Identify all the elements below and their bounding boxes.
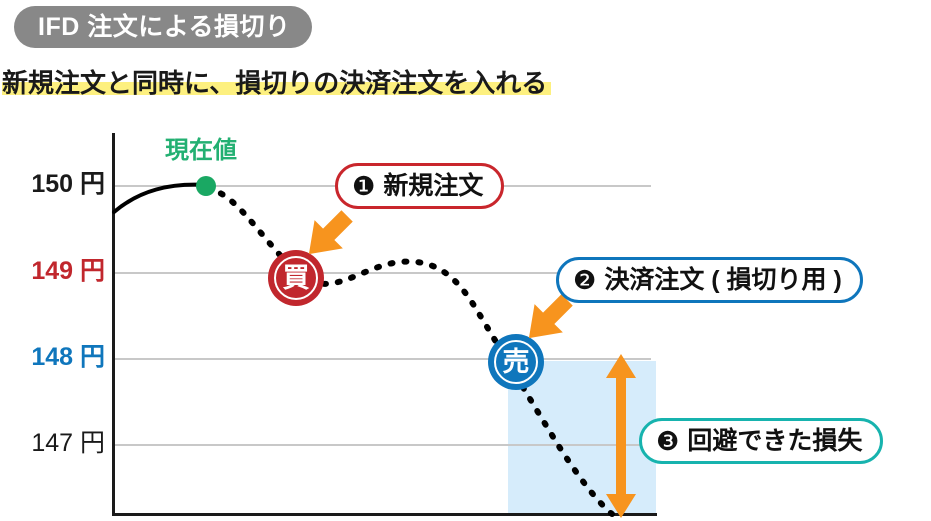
annotation-label-3: 回避できた損失	[687, 429, 862, 454]
y-tick-label-150: 150 円	[5, 172, 105, 197]
annotation-number-3: ❸	[656, 428, 679, 454]
sell-order-label: 売	[503, 349, 530, 376]
subtitle: 新規注文と同時に、損切りの決済注文を入れる	[2, 62, 547, 104]
buy-order-label: 買	[283, 265, 310, 292]
annotation-bubble-2[interactable]: ❷ 決済注文 ( 損切り用 )	[556, 257, 863, 303]
annotation-label-2: 決済注文 ( 損切り用 )	[604, 268, 842, 293]
subtitle-highlight-wrap: 新規注文と同時に、損切りの決済注文を入れる	[2, 70, 547, 97]
annotation-label-1: 新規注文	[383, 174, 483, 199]
subtitle-text: 新規注文と同時に、損切りの決済注文を入れる	[2, 68, 547, 98]
current-value-dot	[196, 176, 216, 196]
current-value-label: 現在値	[165, 139, 237, 163]
buy-order-medallion[interactable]: 買	[268, 250, 324, 306]
sell-order-ring: 売	[494, 340, 538, 384]
buy-order-ring: 買	[274, 256, 318, 300]
y-axis	[112, 133, 115, 516]
annotation-bubble-3[interactable]: ❸ 回避できた損失	[639, 418, 883, 464]
sell-order-medallion[interactable]: 売	[488, 334, 544, 390]
annotation-number-1: ❶	[352, 173, 375, 199]
annotation-number-2: ❷	[573, 267, 596, 293]
y-tick-label-148: 148 円	[5, 345, 105, 370]
infographic-root: IFD 注文による損切り 新規注文と同時に、損切りの決済注文を入れる 150 円…	[0, 0, 931, 521]
gridline-147	[114, 444, 651, 446]
y-tick-label-147: 147 円	[5, 431, 105, 456]
y-tick-label-149: 149 円	[5, 259, 105, 284]
actual-rate-line	[114, 185, 206, 212]
gridline-148	[114, 358, 651, 360]
annotation-bubble-1[interactable]: ❶ 新規注文	[335, 163, 504, 209]
x-axis	[112, 513, 657, 516]
